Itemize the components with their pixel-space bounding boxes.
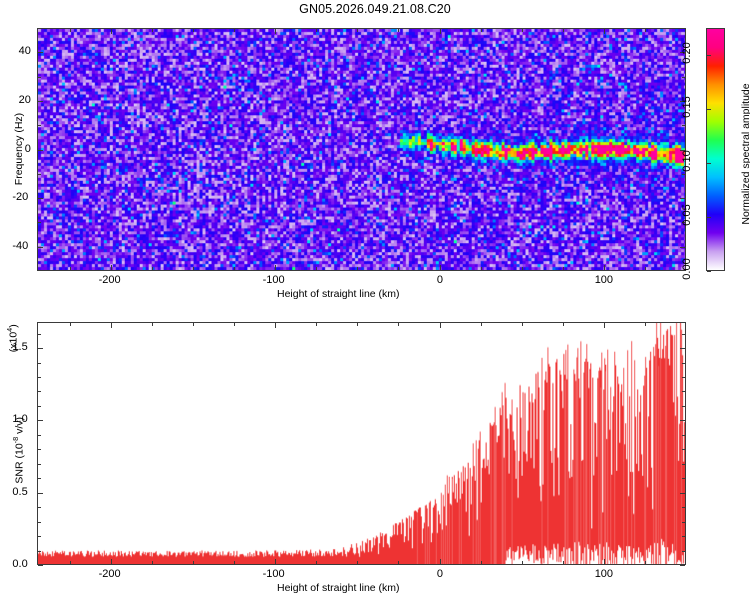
- y-minor-tick-left: [38, 449, 41, 450]
- y-minor-tick-left: [38, 435, 41, 436]
- y-minor-tick-left: [38, 377, 41, 378]
- y-minor-tick-right: [682, 377, 685, 378]
- x-minor-tick-bottom: [398, 561, 399, 564]
- y-tick-right: [680, 565, 685, 566]
- x-tick-label: -100: [263, 568, 285, 580]
- spectrogram-y-axis-title: Frequency (Hz): [13, 104, 25, 194]
- y-tick-right: [680, 348, 685, 349]
- y-tick-left: [38, 101, 43, 102]
- x-minor-tick-top: [481, 323, 482, 326]
- x-tick-top: [604, 323, 605, 328]
- x-tick-bottom: [440, 559, 441, 564]
- y-tick-left: [38, 348, 43, 349]
- colorbar-tick: [707, 109, 711, 110]
- y-tick-right: [680, 247, 685, 248]
- x-minor-tick-top: [645, 323, 646, 326]
- figure-root: GN05.2026.049.21.08.C20 -200-1000100-40-…: [0, 0, 750, 600]
- y-minor-tick-left: [38, 125, 41, 126]
- y-minor-tick-right: [682, 435, 685, 436]
- x-minor-tick-bottom: [357, 561, 358, 564]
- x-minor-tick-bottom: [152, 561, 153, 564]
- y-minor-tick-left: [38, 334, 41, 335]
- snr-multiplier-tail: ): [7, 324, 19, 328]
- y-minor-tick-left: [38, 536, 41, 537]
- x-minor-tick-top: [563, 29, 564, 32]
- y-tick-left: [38, 198, 43, 199]
- y-tick-right: [680, 420, 685, 421]
- x-minor-tick-top: [316, 323, 317, 326]
- x-tick-label: -200: [99, 568, 121, 580]
- y-tick-left: [38, 52, 43, 53]
- x-minor-tick-bottom: [152, 267, 153, 270]
- x-tick-top: [275, 29, 276, 34]
- x-tick-top: [604, 29, 605, 34]
- x-minor-tick-top: [234, 323, 235, 326]
- x-tick-bottom: [275, 265, 276, 270]
- y-tick-label: 40: [19, 45, 31, 57]
- x-minor-tick-bottom: [234, 561, 235, 564]
- colorbar-tick-label: 0.10: [681, 144, 693, 178]
- y-tick-label: 0: [25, 143, 31, 155]
- y-minor-tick-left: [38, 406, 41, 407]
- colorbar-axis-title: Normalized spectral amplitude: [740, 69, 750, 239]
- y-minor-tick-left: [38, 174, 41, 175]
- x-tick-label: -100: [263, 274, 285, 286]
- y-minor-tick-right: [682, 77, 685, 78]
- y-minor-tick-left: [38, 222, 41, 223]
- x-minor-tick-bottom: [398, 267, 399, 270]
- x-minor-tick-top: [357, 29, 358, 32]
- x-minor-tick-bottom: [522, 561, 523, 564]
- snr-plot: [37, 322, 686, 565]
- x-minor-tick-top: [357, 323, 358, 326]
- x-minor-tick-bottom: [70, 561, 71, 564]
- x-tick-bottom: [440, 265, 441, 270]
- y-minor-tick-right: [682, 464, 685, 465]
- x-minor-tick-bottom: [316, 267, 317, 270]
- x-minor-tick-bottom: [316, 561, 317, 564]
- y-tick-left: [38, 150, 43, 151]
- y-minor-tick-right: [682, 536, 685, 537]
- snr-x-axis-title: Height of straight line (km): [277, 582, 400, 594]
- spectrogram-image: [38, 29, 685, 270]
- x-minor-tick-top: [398, 29, 399, 32]
- x-minor-tick-top: [522, 323, 523, 326]
- y-minor-tick-right: [682, 507, 685, 508]
- y-minor-tick-left: [38, 363, 41, 364]
- y-tick-left: [38, 565, 43, 566]
- x-minor-tick-top: [234, 29, 235, 32]
- colorbar-tick: [707, 271, 711, 272]
- colorbar-tick: [707, 217, 711, 218]
- x-minor-tick-bottom: [193, 267, 194, 270]
- colorbar-tick-label: 0.15: [681, 90, 693, 124]
- x-minor-tick-bottom: [522, 267, 523, 270]
- x-minor-tick-top: [316, 29, 317, 32]
- x-minor-tick-top: [522, 29, 523, 32]
- snr-y-axis-title-tail: v/v): [13, 417, 25, 437]
- x-minor-tick-bottom: [645, 267, 646, 270]
- y-tick-right: [680, 493, 685, 494]
- x-minor-tick-top: [398, 323, 399, 326]
- x-tick-bottom: [275, 559, 276, 564]
- y-minor-tick-left: [38, 507, 41, 508]
- x-tick-bottom: [111, 265, 112, 270]
- colorbar-tick: [707, 55, 711, 56]
- x-tick-label: -200: [99, 274, 121, 286]
- y-minor-tick-left: [38, 522, 41, 523]
- colorbar-tick-label: 0.20: [681, 36, 693, 70]
- snr-multiplier-exponent: 4: [5, 328, 14, 332]
- x-tick-top: [111, 323, 112, 328]
- snr-y-axis-exponent: -8: [11, 437, 20, 444]
- x-minor-tick-bottom: [357, 267, 358, 270]
- colorbar: [706, 28, 725, 271]
- x-minor-tick-top: [481, 29, 482, 32]
- colorbar-tick-label: 0.00: [681, 252, 693, 286]
- colorbar-tick: [707, 163, 711, 164]
- x-minor-tick-bottom: [193, 561, 194, 564]
- y-minor-tick-right: [682, 391, 685, 392]
- y-minor-tick-right: [682, 363, 685, 364]
- x-minor-tick-bottom: [481, 561, 482, 564]
- spectrogram-plot: [37, 28, 686, 271]
- snr-y-axis-multiplier: (x104): [5, 310, 20, 366]
- y-minor-tick-left: [38, 464, 41, 465]
- x-minor-tick-top: [563, 323, 564, 326]
- x-tick-label: 0: [437, 274, 443, 286]
- x-minor-tick-bottom: [563, 561, 564, 564]
- y-tick-left: [38, 247, 43, 248]
- x-tick-label: 100: [595, 274, 613, 286]
- colorbar-gradient: [706, 28, 725, 271]
- y-minor-tick-right: [682, 334, 685, 335]
- x-minor-tick-top: [70, 29, 71, 32]
- x-minor-tick-bottom: [234, 267, 235, 270]
- x-minor-tick-top: [152, 323, 153, 326]
- x-minor-tick-bottom: [563, 267, 564, 270]
- page-title: GN05.2026.049.21.08.C20: [0, 2, 750, 16]
- x-minor-tick-top: [193, 29, 194, 32]
- colorbar-tick-label: 0.05: [681, 198, 693, 232]
- x-tick-top: [440, 323, 441, 328]
- x-minor-tick-bottom: [645, 561, 646, 564]
- y-minor-tick-right: [682, 522, 685, 523]
- x-tick-top: [275, 323, 276, 328]
- y-minor-tick-left: [38, 551, 41, 552]
- y-minor-tick-left: [38, 391, 41, 392]
- snr-multiplier-text: (x10: [7, 332, 19, 352]
- x-minor-tick-top: [152, 29, 153, 32]
- x-tick-bottom: [111, 559, 112, 564]
- x-tick-top: [111, 29, 112, 34]
- y-tick-label: -40: [12, 240, 28, 252]
- y-minor-tick-right: [682, 125, 685, 126]
- x-tick-bottom: [604, 265, 605, 270]
- x-minor-tick-bottom: [70, 267, 71, 270]
- snr-line-series: [38, 323, 685, 564]
- x-tick-label: 100: [595, 568, 613, 580]
- x-tick-label: 0: [437, 568, 443, 580]
- y-tick-left: [38, 493, 43, 494]
- y-tick-left: [38, 420, 43, 421]
- spectrogram-x-axis-title: Height of straight line (km): [277, 288, 400, 300]
- y-minor-tick-right: [682, 449, 685, 450]
- snr-y-axis-title-text: SNR (10: [13, 443, 25, 483]
- y-tick-label: 0.0: [12, 558, 27, 570]
- x-minor-tick-top: [193, 323, 194, 326]
- y-minor-tick-left: [38, 77, 41, 78]
- x-tick-bottom: [604, 559, 605, 564]
- y-minor-tick-right: [682, 551, 685, 552]
- y-minor-tick-right: [682, 478, 685, 479]
- x-minor-tick-top: [70, 323, 71, 326]
- x-minor-tick-bottom: [481, 267, 482, 270]
- snr-y-axis-title: SNR (10-8 v/v): [11, 400, 26, 500]
- x-minor-tick-top: [645, 29, 646, 32]
- y-minor-tick-right: [682, 406, 685, 407]
- y-minor-tick-left: [38, 478, 41, 479]
- x-tick-top: [440, 29, 441, 34]
